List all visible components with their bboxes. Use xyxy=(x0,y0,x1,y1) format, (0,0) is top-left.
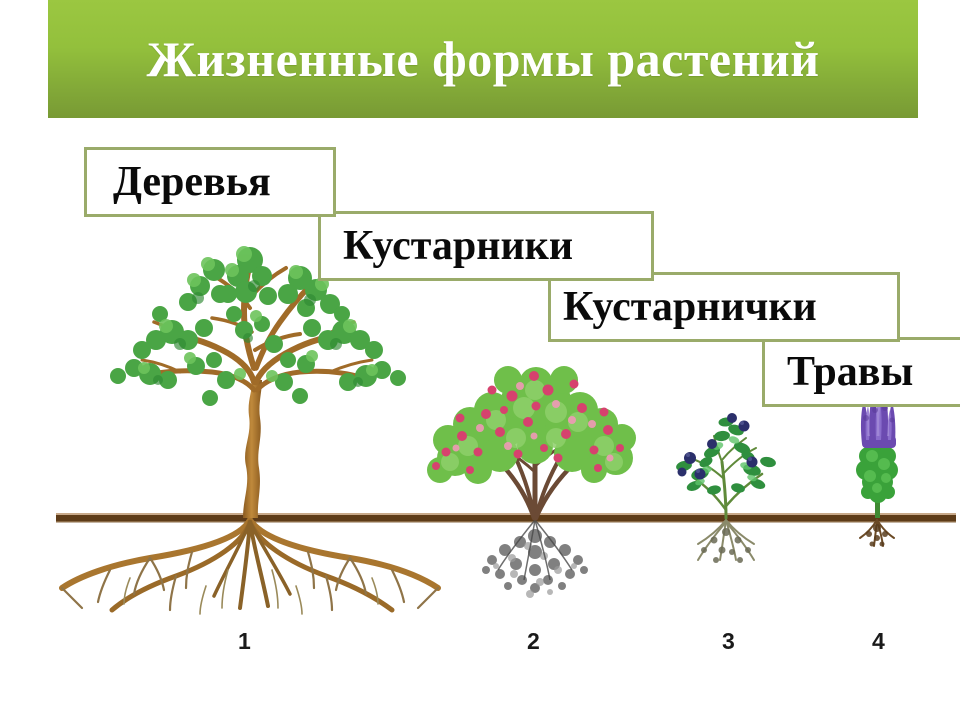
tree-trunk xyxy=(243,380,262,518)
figure-number-1: 1 xyxy=(238,628,251,655)
herb-roots xyxy=(860,520,894,547)
slide-canvas: Жизненные формы растений xyxy=(0,0,960,720)
label-herbs: Травы xyxy=(765,348,960,396)
label-box-shrubs[interactable]: Кустарники xyxy=(318,211,654,281)
label-box-herbs[interactable]: Травы xyxy=(762,337,960,407)
plant-herb xyxy=(856,388,898,547)
label-dwarf-shrubs: Кустарнички xyxy=(551,283,897,331)
dwarf-shrub-roots xyxy=(698,520,754,563)
label-trees: Деревья xyxy=(87,158,333,206)
plant-tree xyxy=(62,246,438,614)
label-shrubs: Кустарники xyxy=(321,222,651,270)
plant-dwarf-shrub xyxy=(675,413,777,563)
label-box-trees[interactable]: Деревья xyxy=(84,147,336,217)
figure-number-3: 3 xyxy=(722,628,735,655)
page-title: Жизненные формы растений xyxy=(146,34,819,84)
title-banner: Жизненные формы растений xyxy=(48,0,918,118)
plant-shrub xyxy=(427,366,636,598)
label-box-dwarf-shrubs[interactable]: Кустарнички xyxy=(548,272,900,342)
figure-number-2: 2 xyxy=(527,628,540,655)
tree-roots xyxy=(62,520,438,614)
figure-number-4: 4 xyxy=(872,628,885,655)
ground-line xyxy=(56,513,956,523)
shrub-roots xyxy=(482,520,588,598)
